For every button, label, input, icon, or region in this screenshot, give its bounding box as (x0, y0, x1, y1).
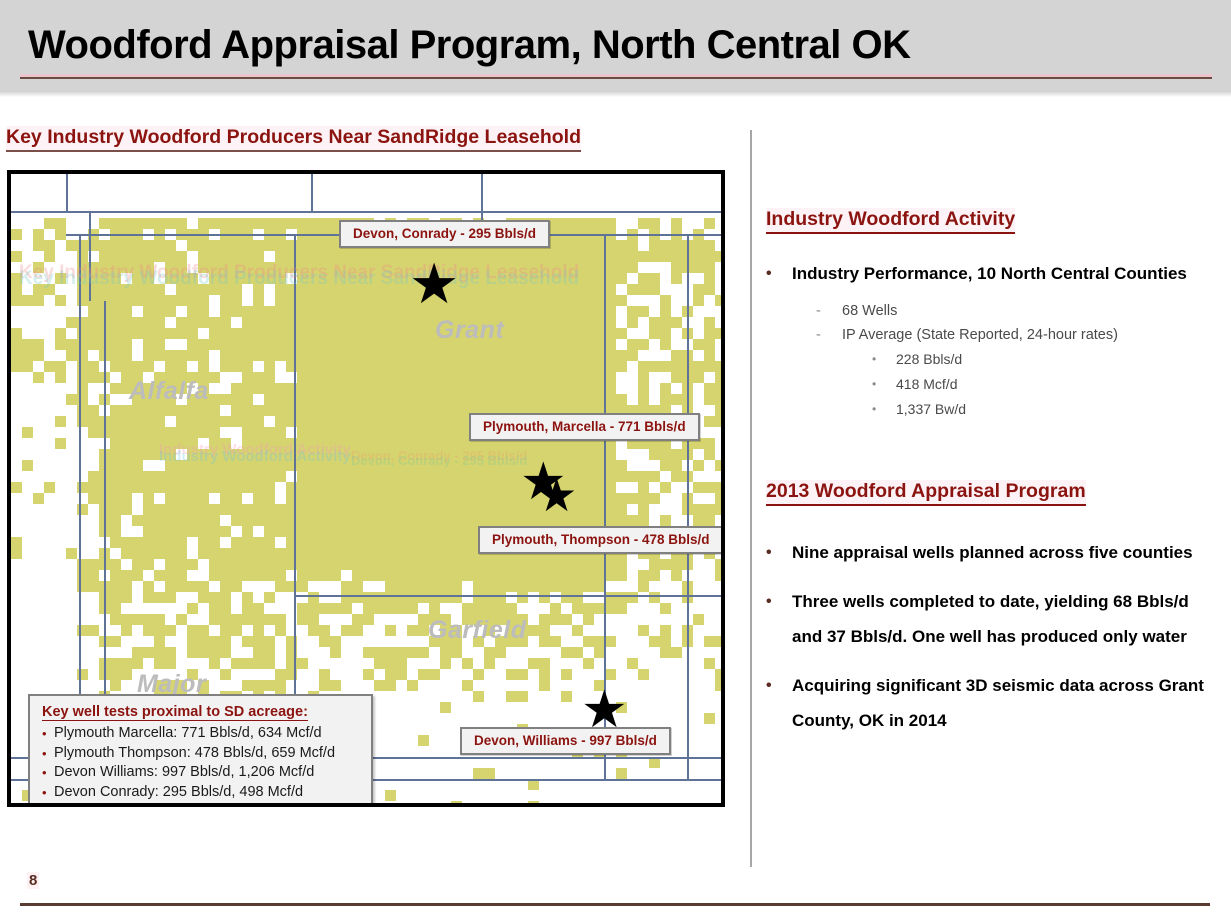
acreage-cell (264, 317, 275, 328)
acreage-cell (154, 504, 165, 515)
acreage-cell (330, 438, 341, 449)
acreage-cell (198, 471, 209, 482)
acreage-cell (121, 482, 132, 493)
acreage-cell (253, 218, 264, 229)
acreage-cell (484, 647, 495, 658)
acreage-cell (88, 372, 99, 383)
acreage-cell (121, 306, 132, 317)
bullet-glyph: • (872, 372, 896, 397)
acreage-cell (660, 328, 671, 339)
bullet-glyph: • (42, 724, 54, 744)
acreage-cell (330, 361, 341, 372)
acreage-cell (484, 768, 495, 779)
acreage-cell (352, 570, 363, 581)
acreage-cell (638, 515, 649, 526)
acreage-cell (330, 372, 341, 383)
acreage-cell (495, 350, 506, 361)
acreage-cell (198, 317, 209, 328)
acreage-cell (275, 383, 286, 394)
acreage-cell (319, 262, 330, 273)
acreage-cell (550, 636, 561, 647)
acreage-cell (253, 306, 264, 317)
acreage-cell (572, 592, 583, 603)
acreage-cell (407, 372, 418, 383)
acreage-cell (88, 405, 99, 416)
acreage-cell (671, 262, 682, 273)
acreage-cell (154, 328, 165, 339)
acreage-cell (220, 636, 231, 647)
acreage-cell (605, 460, 616, 471)
subsubbullet-text: 228 Bbls/d (896, 347, 962, 372)
acreage-cell (517, 592, 528, 603)
acreage-cell (165, 460, 176, 471)
acreage-cell (264, 361, 275, 372)
acreage-cell (319, 537, 330, 548)
acreage-cell (517, 328, 528, 339)
acreage-cell (396, 317, 407, 328)
acreage-cell (418, 570, 429, 581)
acreage-cell (11, 482, 22, 493)
acreage-cell (143, 647, 154, 658)
acreage-cell (363, 394, 374, 405)
acreage-cell (495, 559, 506, 570)
acreage-cell (583, 328, 594, 339)
acreage-cell (572, 273, 583, 284)
acreage-cell (462, 262, 473, 273)
legend-item: •Devon Conrady: 295 Bbls/d, 498 Mcf/d (42, 783, 361, 803)
acreage-cell (176, 570, 187, 581)
acreage-cell (528, 339, 539, 350)
acreage-cell (638, 493, 649, 504)
acreage-cell (352, 372, 363, 383)
acreage-cell (440, 526, 451, 537)
acreage-cell (693, 251, 704, 262)
acreage-cell (165, 328, 176, 339)
acreage-cell (11, 328, 22, 339)
acreage-cell (308, 218, 319, 229)
acreage-cell (429, 383, 440, 394)
acreage-cell (418, 537, 429, 548)
acreage-cell (88, 471, 99, 482)
acreage-cell (132, 295, 143, 306)
acreage-cell (528, 394, 539, 405)
callout-plymouth-thompson[interactable]: Plymouth, Thompson - 478 Bbls/d (478, 526, 724, 554)
callout-devon-conrady[interactable]: Devon, Conrady - 295 Bbls/d (339, 220, 550, 248)
acreage-cell (187, 295, 198, 306)
acreage-cell (330, 273, 341, 284)
acreage-cell (627, 251, 638, 262)
acreage-cell (66, 240, 77, 251)
acreage-cell (649, 757, 660, 768)
acreage-cell (275, 328, 286, 339)
acreage-cell (154, 284, 165, 295)
acreage-cell (319, 669, 330, 680)
acreage-cell (33, 240, 44, 251)
acreage-cell (154, 548, 165, 559)
acreage-cell (253, 603, 264, 614)
acreage-cell (110, 482, 121, 493)
bullet-three-wells: • Three wells completed to date, yieldin… (766, 584, 1221, 654)
acreage-cell (418, 383, 429, 394)
acreage-cell (220, 350, 231, 361)
acreage-cell (363, 592, 374, 603)
acreage-cell (572, 306, 583, 317)
acreage-cell (429, 427, 440, 438)
acreage-cell (704, 350, 715, 361)
subbullet-text: IP Average (State Reported, 24-hour rate… (842, 323, 1118, 347)
acreage-cell (198, 537, 209, 548)
acreage-cell (418, 350, 429, 361)
acreage-cell (561, 361, 572, 372)
acreage-cell (605, 372, 616, 383)
acreage-cell (44, 482, 55, 493)
acreage-cell (297, 383, 308, 394)
section-heading-industry-activity: Industry Woodford Activity (766, 208, 1015, 234)
page-title: Woodford Appraisal Program, North Centra… (28, 24, 911, 66)
acreage-cell (297, 515, 308, 526)
acreage-cell (451, 559, 462, 570)
acreage-cell (231, 581, 242, 592)
acreage-cell (297, 251, 308, 262)
acreage-cell (539, 680, 550, 691)
acreage-cell (242, 383, 253, 394)
acreage-cell (121, 460, 132, 471)
acreage-cell (385, 493, 396, 504)
acreage-cell (121, 614, 132, 625)
acreage-cell (187, 427, 198, 438)
acreage-cell (638, 625, 649, 636)
acreage-cell (209, 515, 220, 526)
acreage-cell (396, 394, 407, 405)
acreage-cell (462, 526, 473, 537)
acreage-cell (176, 581, 187, 592)
acreage-cell (209, 603, 220, 614)
acreage-cell (440, 493, 451, 504)
acreage-cell (132, 361, 143, 372)
callout-devon-williams[interactable]: Devon, Williams - 997 Bbls/d (460, 727, 671, 755)
acreage-cell (165, 504, 176, 515)
acreage-cell (462, 482, 473, 493)
acreage-cell (297, 548, 308, 559)
acreage-cell (561, 328, 572, 339)
acreage-cell (319, 482, 330, 493)
acreage-cell (605, 570, 616, 581)
acreage-cell (396, 449, 407, 460)
acreage-cell (572, 570, 583, 581)
county-boundary-line (294, 595, 721, 597)
acreage-cell (363, 416, 374, 427)
acreage-cell (396, 482, 407, 493)
acreage-cell (88, 559, 99, 570)
acreage-cell (242, 559, 253, 570)
acreage-cell (495, 449, 506, 460)
acreage-cell (176, 438, 187, 449)
acreage-cell (209, 636, 220, 647)
acreage-cell (407, 680, 418, 691)
acreage-cell (473, 460, 484, 471)
acreage-cell (341, 482, 352, 493)
acreage-cell (495, 471, 506, 482)
acreage-cell (231, 493, 242, 504)
acreage-cell (396, 570, 407, 581)
acreage-cell (165, 482, 176, 493)
acreage-cell (187, 482, 198, 493)
acreage-cell (352, 548, 363, 559)
acreage-cell (275, 471, 286, 482)
acreage-cell (495, 592, 506, 603)
acreage-cell (649, 218, 660, 229)
acreage-cell (440, 658, 451, 669)
acreage-cell (297, 449, 308, 460)
acreage-cell (264, 515, 275, 526)
acreage-cell (385, 559, 396, 570)
acreage-cell (462, 471, 473, 482)
acreage-cell (253, 647, 264, 658)
acreage-cell (264, 306, 275, 317)
acreage-cell (440, 548, 451, 559)
acreage-cell (176, 493, 187, 504)
acreage-cell (616, 350, 627, 361)
acreage-cell (550, 240, 561, 251)
acreage-cell (319, 438, 330, 449)
acreage-cell (539, 251, 550, 262)
acreage-cell (264, 504, 275, 515)
acreage-cell (561, 559, 572, 570)
acreage-cell (297, 295, 308, 306)
acreage-cell (484, 559, 495, 570)
acreage-cell (198, 295, 209, 306)
acreage-cell (187, 328, 198, 339)
acreage-cell (198, 251, 209, 262)
acreage-cell (297, 339, 308, 350)
acreage-cell (330, 504, 341, 515)
acreage-cell (693, 482, 704, 493)
acreage-cell (330, 537, 341, 548)
acreage-cell (132, 328, 143, 339)
acreage-cell (374, 339, 385, 350)
acreage-cell (132, 570, 143, 581)
acreage-cell (253, 504, 264, 515)
acreage-cell (528, 295, 539, 306)
acreage-cell (517, 339, 528, 350)
acreage-cell (297, 427, 308, 438)
acreage-cell (330, 317, 341, 328)
acreage-cell (594, 218, 605, 229)
acreage-cell (385, 669, 396, 680)
acreage-cell (165, 515, 176, 526)
acreage-cell (583, 460, 594, 471)
acreage-cell (528, 306, 539, 317)
acreage-cell (88, 306, 99, 317)
acreage-cell (539, 328, 550, 339)
acreage-cell (418, 647, 429, 658)
acreage-cell (110, 636, 121, 647)
acreage-cell (88, 317, 99, 328)
acreage-cell (231, 416, 242, 427)
acreage-cell (638, 581, 649, 592)
acreage-cell (396, 526, 407, 537)
acreage-cell (374, 471, 385, 482)
acreage-cell (462, 680, 473, 691)
acreage-cell (352, 460, 363, 471)
acreage-cell (99, 251, 110, 262)
acreage-cell (198, 581, 209, 592)
acreage-cell (198, 526, 209, 537)
acreage-cell (297, 537, 308, 548)
map-canvas: Key Industry Woodford Producers Near San… (11, 174, 721, 803)
acreage-cell (220, 295, 231, 306)
acreage-cell (253, 416, 264, 427)
acreage-cell (385, 625, 396, 636)
acreage-cell (121, 493, 132, 504)
acreage-cell (660, 636, 671, 647)
acreage-cell (319, 372, 330, 383)
acreage-cell (506, 394, 517, 405)
acreage-cell (275, 625, 286, 636)
acreage-cell (539, 625, 550, 636)
acreage-cell (198, 625, 209, 636)
acreage-cell (506, 383, 517, 394)
acreage-cell (319, 416, 330, 427)
acreage-cell (583, 603, 594, 614)
acreage-cell (66, 350, 77, 361)
acreage-cell (165, 537, 176, 548)
acreage-cell (319, 515, 330, 526)
acreage-cell (121, 471, 132, 482)
acreage-cell (253, 405, 264, 416)
acreage-cell (440, 581, 451, 592)
acreage-cell (550, 614, 561, 625)
acreage-map[interactable]: Key Industry Woodford Producers Near San… (7, 170, 725, 807)
acreage-cell (330, 548, 341, 559)
acreage-cell (363, 647, 374, 658)
acreage-cell (187, 240, 198, 251)
acreage-cell (352, 449, 363, 460)
acreage-cell (517, 284, 528, 295)
acreage-cell (264, 471, 275, 482)
acreage-cell (561, 383, 572, 394)
acreage-cell (704, 361, 715, 372)
acreage-cell (473, 570, 484, 581)
acreage-cell (583, 361, 594, 372)
right-content-panel: Industry Woodford Activity • Industry Pe… (766, 130, 1221, 738)
acreage-cell (429, 482, 440, 493)
acreage-cell (198, 306, 209, 317)
acreage-cell (143, 504, 154, 515)
acreage-cell (462, 251, 473, 262)
acreage-cell (495, 504, 506, 515)
acreage-cell (407, 339, 418, 350)
acreage-cell (253, 317, 264, 328)
acreage-cell (154, 614, 165, 625)
acreage-cell (176, 471, 187, 482)
acreage-cell (231, 548, 242, 559)
acreage-cell (495, 515, 506, 526)
acreage-cell (638, 361, 649, 372)
acreage-cell (715, 372, 725, 383)
acreage-cell (473, 691, 484, 702)
acreage-cell (693, 240, 704, 251)
acreage-cell (660, 625, 671, 636)
acreage-cell (363, 339, 374, 350)
acreage-cell (605, 394, 616, 405)
acreage-cell (187, 625, 198, 636)
acreage-cell (506, 449, 517, 460)
acreage-cell (220, 460, 231, 471)
acreage-cell (264, 240, 275, 251)
acreage-cell (363, 482, 374, 493)
acreage-cell (242, 218, 253, 229)
acreage-cell (209, 570, 220, 581)
county-boundary-line (89, 211, 91, 301)
acreage-cell (649, 471, 660, 482)
legend-item-text: Devon Conrady: 295 Bbls/d, 498 Mcf/d (54, 783, 303, 803)
acreage-cell (517, 372, 528, 383)
acreage-cell (220, 669, 231, 680)
acreage-cell (605, 361, 616, 372)
acreage-cell (88, 339, 99, 350)
acreage-cell (209, 339, 220, 350)
acreage-cell (110, 427, 121, 438)
acreage-cell (539, 669, 550, 680)
acreage-cell (110, 251, 121, 262)
acreage-cell (297, 603, 308, 614)
acreage-cell (352, 515, 363, 526)
acreage-cell (704, 394, 715, 405)
acreage-cell (198, 460, 209, 471)
acreage-cell (572, 394, 583, 405)
acreage-cell (495, 284, 506, 295)
acreage-cell (704, 438, 715, 449)
acreage-cell (143, 493, 154, 504)
acreage-cell (396, 306, 407, 317)
bullet-glyph: • (872, 347, 896, 372)
acreage-cell (187, 317, 198, 328)
acreage-cell (231, 482, 242, 493)
acreage-cell (143, 559, 154, 570)
acreage-cell (66, 394, 77, 405)
acreage-cell (264, 328, 275, 339)
acreage-cell (572, 383, 583, 394)
acreage-cell (341, 284, 352, 295)
acreage-cell (583, 471, 594, 482)
acreage-cell (363, 460, 374, 471)
acreage-cell (693, 460, 704, 471)
acreage-cell (660, 449, 671, 460)
acreage-cell (374, 350, 385, 361)
acreage-cell (506, 581, 517, 592)
callout-plymouth-marcella[interactable]: Plymouth, Marcella - 771 Bbls/d (469, 413, 700, 441)
header-rule-dark (20, 77, 1212, 79)
acreage-cell (341, 526, 352, 537)
acreage-cell (385, 383, 396, 394)
acreage-cell (121, 416, 132, 427)
acreage-cell (143, 471, 154, 482)
acreage-cell (319, 625, 330, 636)
acreage-cell (363, 493, 374, 504)
acreage-cell (198, 427, 209, 438)
acreage-cell (253, 537, 264, 548)
acreage-cell (264, 350, 275, 361)
acreage-cell (220, 262, 231, 273)
acreage-cell (308, 471, 319, 482)
acreage-cell (374, 383, 385, 394)
acreage-cell (396, 592, 407, 603)
acreage-cell (429, 416, 440, 427)
acreage-cell (275, 614, 286, 625)
acreage-cell (429, 438, 440, 449)
acreage-cell (396, 504, 407, 515)
